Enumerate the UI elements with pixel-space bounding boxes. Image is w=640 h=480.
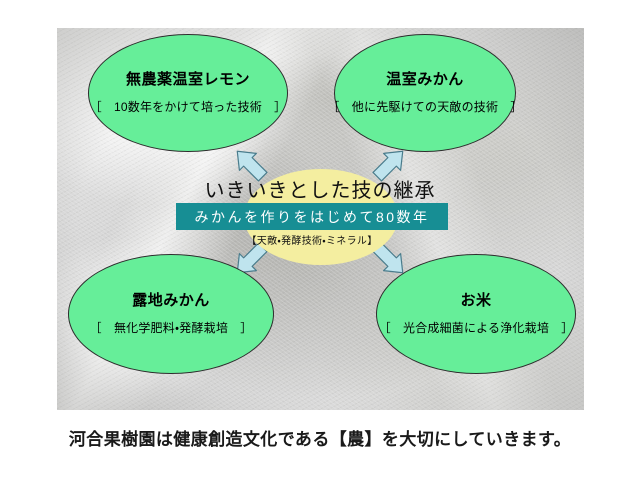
node-outdoor-mikan[interactable]: 露地みかん ［ 無化学肥料・発酵栽培 ］	[68, 254, 274, 374]
center-banner-label: みかんを作りをはじめて80数年	[194, 207, 429, 227]
node-rice-title: お米	[460, 293, 491, 310]
center-tagline: 【天敵・発酵技術・ミネラル】	[200, 232, 424, 247]
node-lemon[interactable]: 無農薬温室レモン ［ 10数年をかけて培った技術 ］	[88, 34, 288, 152]
node-greenhouse-mikan-title: 温室みかん	[386, 72, 464, 89]
caption: 河合果樹園は健康創造文化である【農】を大切にしていきます。	[0, 425, 640, 450]
center-banner: みかんを作りをはじめて80数年	[176, 203, 448, 230]
node-greenhouse-mikan-subtitle: ［ 他に先駆けての天敵の技術 ］	[327, 101, 522, 114]
node-rice-subtitle: ［ 光合成細菌による浄化栽培 ］	[379, 322, 574, 335]
node-outdoor-mikan-subtitle: ［ 無化学肥料・発酵栽培 ］	[90, 322, 253, 335]
node-greenhouse-mikan[interactable]: 温室みかん ［ 他に先駆けての天敵の技術 ］	[334, 34, 516, 152]
node-rice[interactable]: お米 ［ 光合成細菌による浄化栽培 ］	[376, 254, 576, 374]
node-lemon-title: 無農薬温室レモン	[126, 72, 250, 89]
node-outdoor-mikan-title: 露地みかん	[132, 293, 210, 310]
slide-canvas: 無農薬温室レモン ［ 10数年をかけて培った技術 ］ 温室みかん ［ 他に先駆け…	[0, 0, 640, 480]
center-heading: いきいきとした技の継承	[150, 174, 490, 203]
node-lemon-subtitle: ［ 10数年をかけて培った技術 ］	[90, 101, 287, 114]
